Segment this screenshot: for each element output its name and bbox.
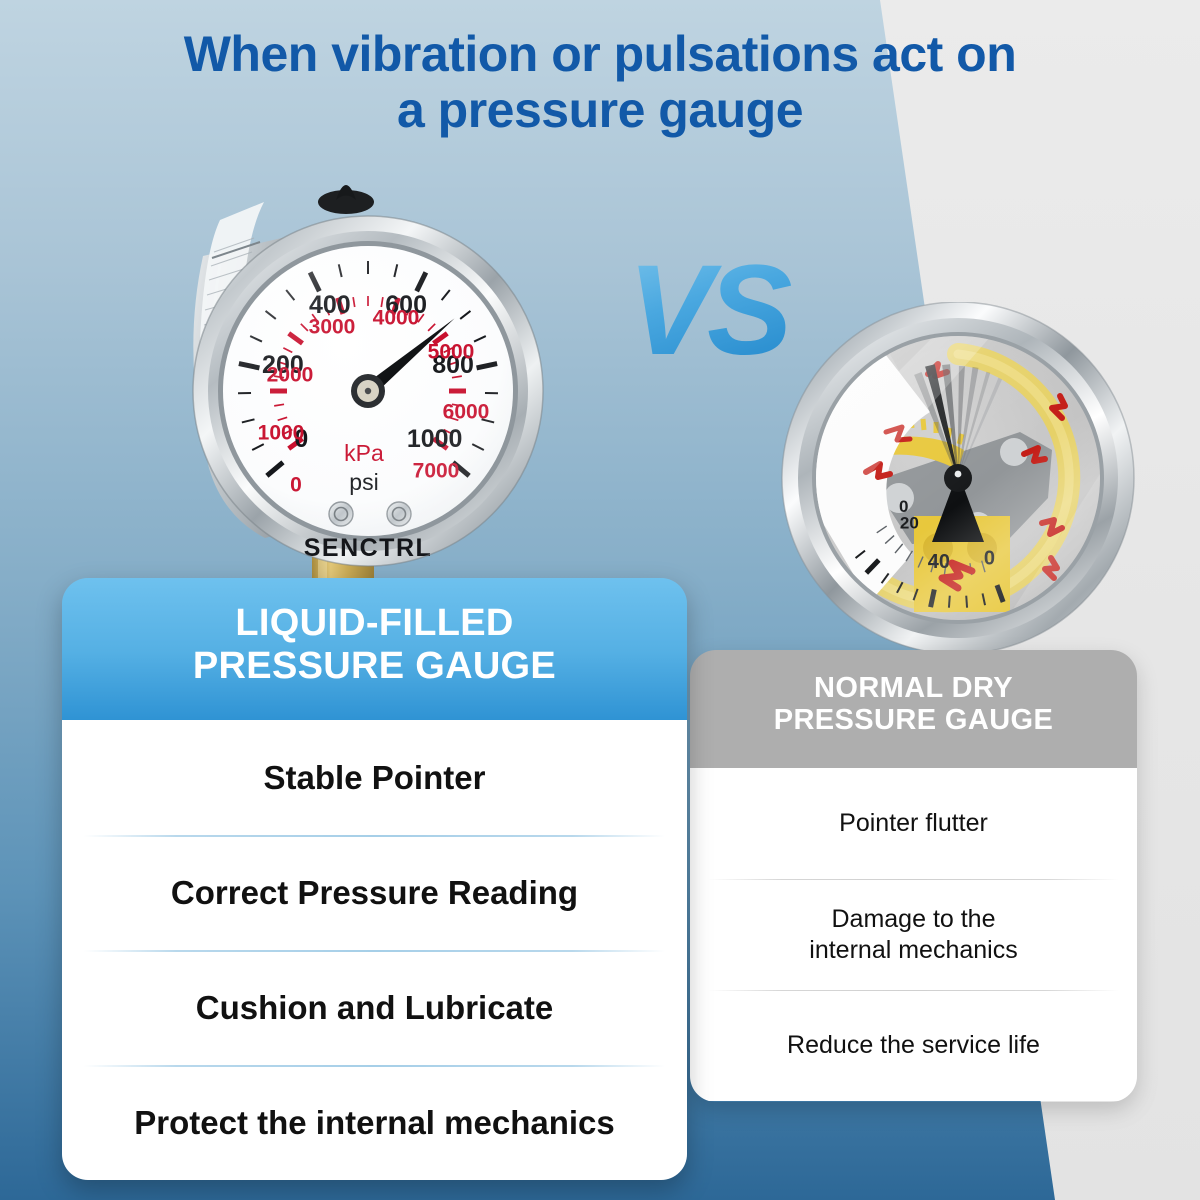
- dry-card-header-line-2: PRESSURE GAUGE: [700, 704, 1127, 736]
- gauge-vent-cap: [318, 185, 374, 214]
- dry-card-header: NORMAL DRY PRESSURE GAUGE: [690, 650, 1137, 768]
- list-item: Reduce the service life: [690, 990, 1137, 1101]
- liquid-gauge-card: LIQUID-FILLED PRESSURE GAUGE Stable Poin…: [62, 578, 687, 1180]
- list-item: Correct Pressure Reading: [62, 835, 687, 950]
- list-item: Protect the internal mechanics: [62, 1065, 687, 1180]
- dry-card-header-line-1: NORMAL DRY: [700, 672, 1127, 704]
- liquid-card-body: Stable Pointer Correct Pressure Reading …: [62, 720, 687, 1180]
- vs-label: VS: [628, 239, 792, 382]
- page-title-line-2: a pressure gauge: [0, 82, 1200, 138]
- liquid-item-label: Correct Pressure Reading: [155, 874, 594, 912]
- liquid-card-header: LIQUID-FILLED PRESSURE GAUGE: [62, 578, 687, 720]
- liquid-item-label: Protect the internal mechanics: [118, 1104, 630, 1142]
- dry-gauge-image: 0 40 20 0: [762, 302, 1154, 662]
- liquid-card-header-line-2: PRESSURE GAUGE: [72, 645, 677, 688]
- infographic-canvas: When vibration or pulsations act on a pr…: [0, 0, 1200, 1200]
- dry-item-label: Damage to theinternal mechanics: [793, 904, 1033, 965]
- page-title-line-1: When vibration or pulsations act on: [0, 26, 1200, 82]
- liquid-filled-gauge-image: 0 200 400 600 800 1000 0 1000 2000 3000 …: [168, 156, 548, 586]
- dry-gauge-card: NORMAL DRY PRESSURE GAUGE Pointer flutte…: [690, 650, 1137, 1102]
- gauge-brand-label: SENCTRL: [304, 534, 433, 562]
- list-item: Cushion and Lubricate: [62, 950, 687, 1065]
- dry-card-body: Pointer flutter Damage to theinternal me…: [690, 768, 1137, 1101]
- list-item: Damage to theinternal mechanics: [690, 879, 1137, 990]
- dry-item-label: Reduce the service life: [771, 1030, 1056, 1061]
- vs-badge: VS: [612, 236, 802, 386]
- gauge-glass-reflection: [223, 246, 513, 536]
- liquid-card-header-line-1: LIQUID-FILLED: [72, 602, 677, 645]
- dry-item-label: Pointer flutter: [823, 808, 1004, 839]
- list-item: Stable Pointer: [62, 720, 687, 835]
- liquid-item-label: Cushion and Lubricate: [180, 989, 570, 1027]
- liquid-item-label: Stable Pointer: [248, 759, 502, 797]
- page-title: When vibration or pulsations act on a pr…: [0, 26, 1200, 138]
- list-item: Pointer flutter: [690, 768, 1137, 879]
